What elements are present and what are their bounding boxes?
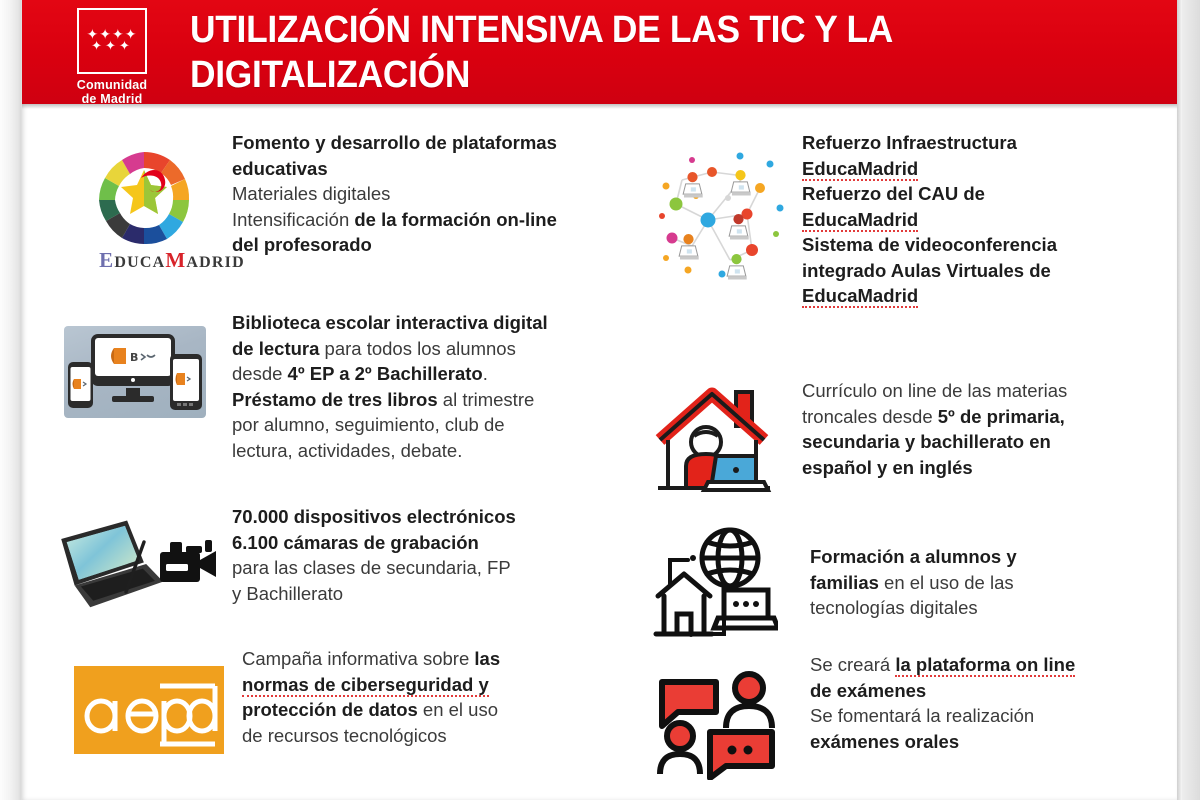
slide-canvas: ✦✦✦✦ ✦✦✦ Comunidad de Madrid UTILIZACIÓN…: [0, 0, 1200, 800]
network-of-users-icon: [652, 142, 787, 282]
text-line: EducaMadrid: [802, 156, 1182, 182]
item-text: Currículo on line de las materiastroncal…: [802, 378, 1182, 480]
text-line: tecnologías digitales: [810, 595, 1182, 621]
text-line: Currículo on line de las materias: [802, 378, 1182, 404]
text-line: troncales desde 5º de primaria,: [802, 404, 1182, 430]
text-line: por alumno, seguimiento, club de: [232, 412, 662, 438]
text-emphasis: 70.000 dispositivos electrónicos: [232, 506, 516, 527]
text-line: del profesorado: [232, 232, 662, 258]
digital-library-devices-icon: B: [64, 326, 206, 418]
text-line: Biblioteca escolar interactiva digital: [232, 310, 662, 336]
text-emphasis: EducaMadrid: [802, 285, 918, 308]
header-bar: ✦✦✦✦ ✦✦✦ Comunidad de Madrid UTILIZACIÓN…: [22, 0, 1177, 104]
text-emphasis: 6.100 cámaras de grabación: [232, 532, 479, 553]
stars-row-bottom: ✦✦✦: [91, 41, 133, 53]
org-name-line2: de Madrid: [56, 92, 168, 104]
text-run: troncales desde: [802, 406, 938, 427]
text-run: Campaña informativa sobre: [242, 648, 474, 669]
text-line: exámenes orales: [810, 729, 1182, 755]
text-line: 6.100 cámaras de grabación: [232, 530, 662, 556]
text-line: protección de datos en el uso: [242, 697, 662, 723]
text-run: .: [483, 363, 488, 384]
text-line: Sistema de videoconferencia: [802, 232, 1182, 258]
list-item: B: [42, 310, 662, 500]
text-line: educativas: [232, 156, 662, 182]
text-run: Se fomentará la realización: [810, 705, 1034, 726]
text-run: para todos los alumnos: [319, 338, 515, 359]
text-emphasis: exámenes orales: [810, 731, 959, 752]
text-emphasis: la plataforma on line: [895, 654, 1075, 677]
text-emphasis: familias: [810, 572, 879, 593]
text-line: familias en el uso de las: [810, 570, 1182, 596]
item-text: 70.000 dispositivos electrónicos6.100 cá…: [232, 504, 662, 606]
item-text: Formación a alumnos yfamilias en el uso …: [810, 544, 1182, 621]
educamadrid-logo-icon: EDUCAMADRID: [84, 144, 204, 256]
text-line: de lectura para todos los alumnos: [232, 336, 662, 362]
text-run: para las clases de secundaria, FP: [232, 557, 511, 578]
text-run: en el uso de las: [879, 572, 1014, 593]
text-line: lectura, actividades, debate.: [232, 438, 662, 464]
item-text: Campaña informativa sobre lasnormas de c…: [242, 646, 662, 748]
text-run: Intensificación: [232, 209, 354, 230]
madrid-shield-icon: ✦✦✦✦ ✦✦✦: [77, 8, 147, 74]
text-emphasis: español y en inglés: [802, 457, 973, 478]
text-run: tecnologías digitales: [810, 597, 978, 618]
text-line: de exámenes: [810, 678, 1182, 704]
text-emphasis: Formación a alumnos y: [810, 546, 1017, 567]
list-item: Formación a alumnos yfamilias en el uso …: [642, 520, 1177, 650]
text-emphasis: Sistema de videoconferencia: [802, 234, 1057, 255]
list-item: Se creará la plataforma on linede exámen…: [642, 652, 1177, 792]
text-run: Materiales digitales: [232, 183, 390, 204]
text-run: por alumno, seguimiento, club de: [232, 414, 505, 435]
text-run: Se creará: [810, 654, 895, 675]
text-line: Refuerzo del CAU de: [802, 181, 1182, 207]
text-run: Currículo on line de las materias: [802, 380, 1067, 401]
text-line: integrado Aulas Virtuales de: [802, 258, 1182, 284]
text-emphasis: de lectura: [232, 338, 319, 359]
wordmark-duca: DUCA: [114, 254, 165, 271]
text-emphasis: EducaMadrid: [802, 209, 918, 232]
text-line: Campaña informativa sobre las: [242, 646, 662, 672]
text-line: Se creará la plataforma on line: [810, 652, 1182, 678]
header-shadow: [22, 104, 1177, 109]
text-line: 70.000 dispositivos electrónicos: [232, 504, 662, 530]
text-line: EducaMadrid: [802, 207, 1182, 233]
text-emphasis: Fomento y desarrollo de plataformas: [232, 132, 557, 153]
page-title: UTILIZACIÓN INTENSIVA DE LAS TIC Y LA DI…: [190, 8, 1083, 98]
aepd-logo-icon: [74, 666, 224, 754]
text-line: Refuerzo Infraestructura: [802, 130, 1182, 156]
text-emphasis: las: [474, 648, 500, 669]
text-emphasis: Biblioteca escolar interactiva digital: [232, 312, 548, 333]
text-line: de recursos tecnológicos: [242, 723, 662, 749]
item-text: Fomento y desarrollo de plataformaseduca…: [232, 130, 662, 258]
text-line: desde 4º EP a 2º Bachillerato.: [232, 361, 662, 387]
text-emphasis: 5º de primaria,: [938, 406, 1065, 427]
text-emphasis: secundaria y bachillerato en: [802, 431, 1051, 452]
text-run: de recursos tecnológicos: [242, 725, 447, 746]
text-line: secundaria y bachillerato en: [802, 429, 1182, 455]
text-emphasis: integrado Aulas Virtuales de: [802, 260, 1051, 281]
wordmark-e: E: [99, 248, 114, 272]
text-run: y Bachillerato: [232, 583, 343, 604]
text-emphasis: normas de ciberseguridad y: [242, 674, 489, 697]
text-line: EducaMadrid: [802, 283, 1182, 309]
text-line: Préstamo de tres libros al trimestre: [232, 387, 662, 413]
home-student-laptop-icon: [650, 384, 778, 500]
item-text: Se creará la plataforma on linede exámen…: [810, 652, 1182, 754]
text-line: Se fomentará la realización: [810, 703, 1182, 729]
list-item: Refuerzo InfraestructuraEducaMadridRefue…: [642, 130, 1177, 325]
text-run: en el uso: [418, 699, 498, 720]
list-item: Currículo on line de las materiastroncal…: [642, 374, 1177, 514]
people-speech-bubbles-icon: [654, 670, 782, 780]
text-line: Fomento y desarrollo de plataformas: [232, 130, 662, 156]
text-run: desde: [232, 363, 288, 384]
wordmark-m: M: [165, 248, 186, 272]
text-run: al trimestre: [438, 389, 535, 410]
text-emphasis: Refuerzo del CAU de: [802, 183, 985, 204]
text-emphasis: 4º EP a 2º Bachillerato: [288, 363, 483, 384]
text-line: Materiales digitales: [232, 181, 662, 207]
text-run: lectura, actividades, debate.: [232, 440, 462, 461]
text-emphasis: de exámenes: [810, 680, 926, 701]
list-item: 70.000 dispositivos electrónicos6.100 cá…: [42, 504, 662, 654]
text-line: Intensificación de la formación on-line: [232, 207, 662, 233]
content-area: EDUCAMADRID Fomento y desarrollo de plat…: [22, 112, 1177, 800]
text-emphasis: Refuerzo Infraestructura: [802, 132, 1017, 153]
text-emphasis: Préstamo de tres libros: [232, 389, 438, 410]
text-emphasis: del profesorado: [232, 234, 372, 255]
org-name-line1: Comunidad: [56, 78, 168, 92]
text-line: y Bachillerato: [232, 581, 662, 607]
text-emphasis: protección de datos: [242, 699, 418, 720]
text-emphasis: educativas: [232, 158, 328, 179]
text-emphasis: EducaMadrid: [802, 158, 918, 181]
item-text: Refuerzo InfraestructuraEducaMadridRefue…: [802, 130, 1182, 309]
text-line: Formación a alumnos y: [810, 544, 1182, 570]
item-text: Biblioteca escolar interactiva digitalde…: [232, 310, 662, 463]
comunidad-de-madrid-logo: ✦✦✦✦ ✦✦✦ Comunidad de Madrid: [56, 4, 168, 104]
svg-text:B: B: [130, 351, 138, 364]
list-item: EDUCAMADRID Fomento y desarrollo de plat…: [42, 130, 662, 295]
text-emphasis: de la formación on-line: [354, 209, 557, 230]
text-line: para las clases de secundaria, FP: [232, 555, 662, 581]
list-item: Campaña informativa sobre lasnormas de c…: [42, 646, 662, 796]
laptop-and-camcorder-icon: [48, 518, 228, 614]
text-line: normas de ciberseguridad y: [242, 672, 662, 698]
text-line: español y en inglés: [802, 455, 1182, 481]
globe-home-laptop-icon: [650, 526, 778, 642]
